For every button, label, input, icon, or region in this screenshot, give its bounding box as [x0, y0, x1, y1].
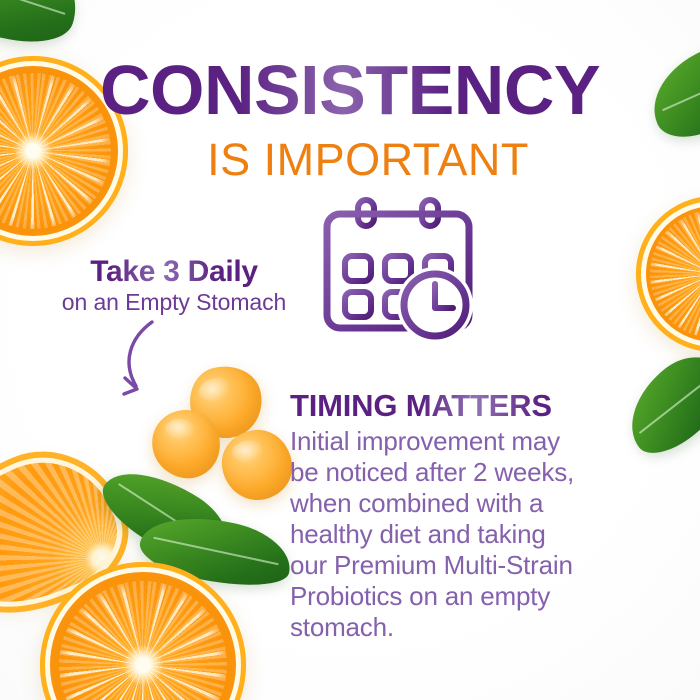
calendar-clock-icon	[318, 196, 482, 342]
dosage-callout: Take 3 Daily on an Empty Stomach	[38, 255, 310, 316]
timing-body-line: Initial improvement may	[290, 426, 648, 457]
curved-arrow-down-right-icon	[100, 316, 190, 406]
timing-body-line: be noticed after 2 weeks,	[290, 457, 648, 488]
timing-body-line: stomach.	[290, 612, 648, 643]
dosage-subtitle: on an Empty Stomach	[38, 289, 310, 316]
timing-body-line: Probiotics on an empty	[290, 581, 648, 612]
promo-graphic: CONSISTENCY IS IMPORTANT	[0, 0, 700, 700]
timing-body-line: when combined with a	[290, 488, 648, 519]
page-title: CONSISTENCY	[0, 53, 700, 127]
timing-body-line: our Premium Multi-Strain	[290, 550, 648, 581]
timing-title: TIMING MATTERS	[290, 388, 648, 423]
dosage-title: Take 3 Daily	[38, 255, 310, 289]
timing-body-line: healthy diet and taking	[290, 519, 648, 550]
timing-callout: TIMING MATTERS Initial improvement may b…	[290, 388, 648, 643]
timing-body: Initial improvement may be noticed after…	[290, 426, 648, 643]
page-subtitle: IS IMPORTANT	[0, 136, 700, 184]
